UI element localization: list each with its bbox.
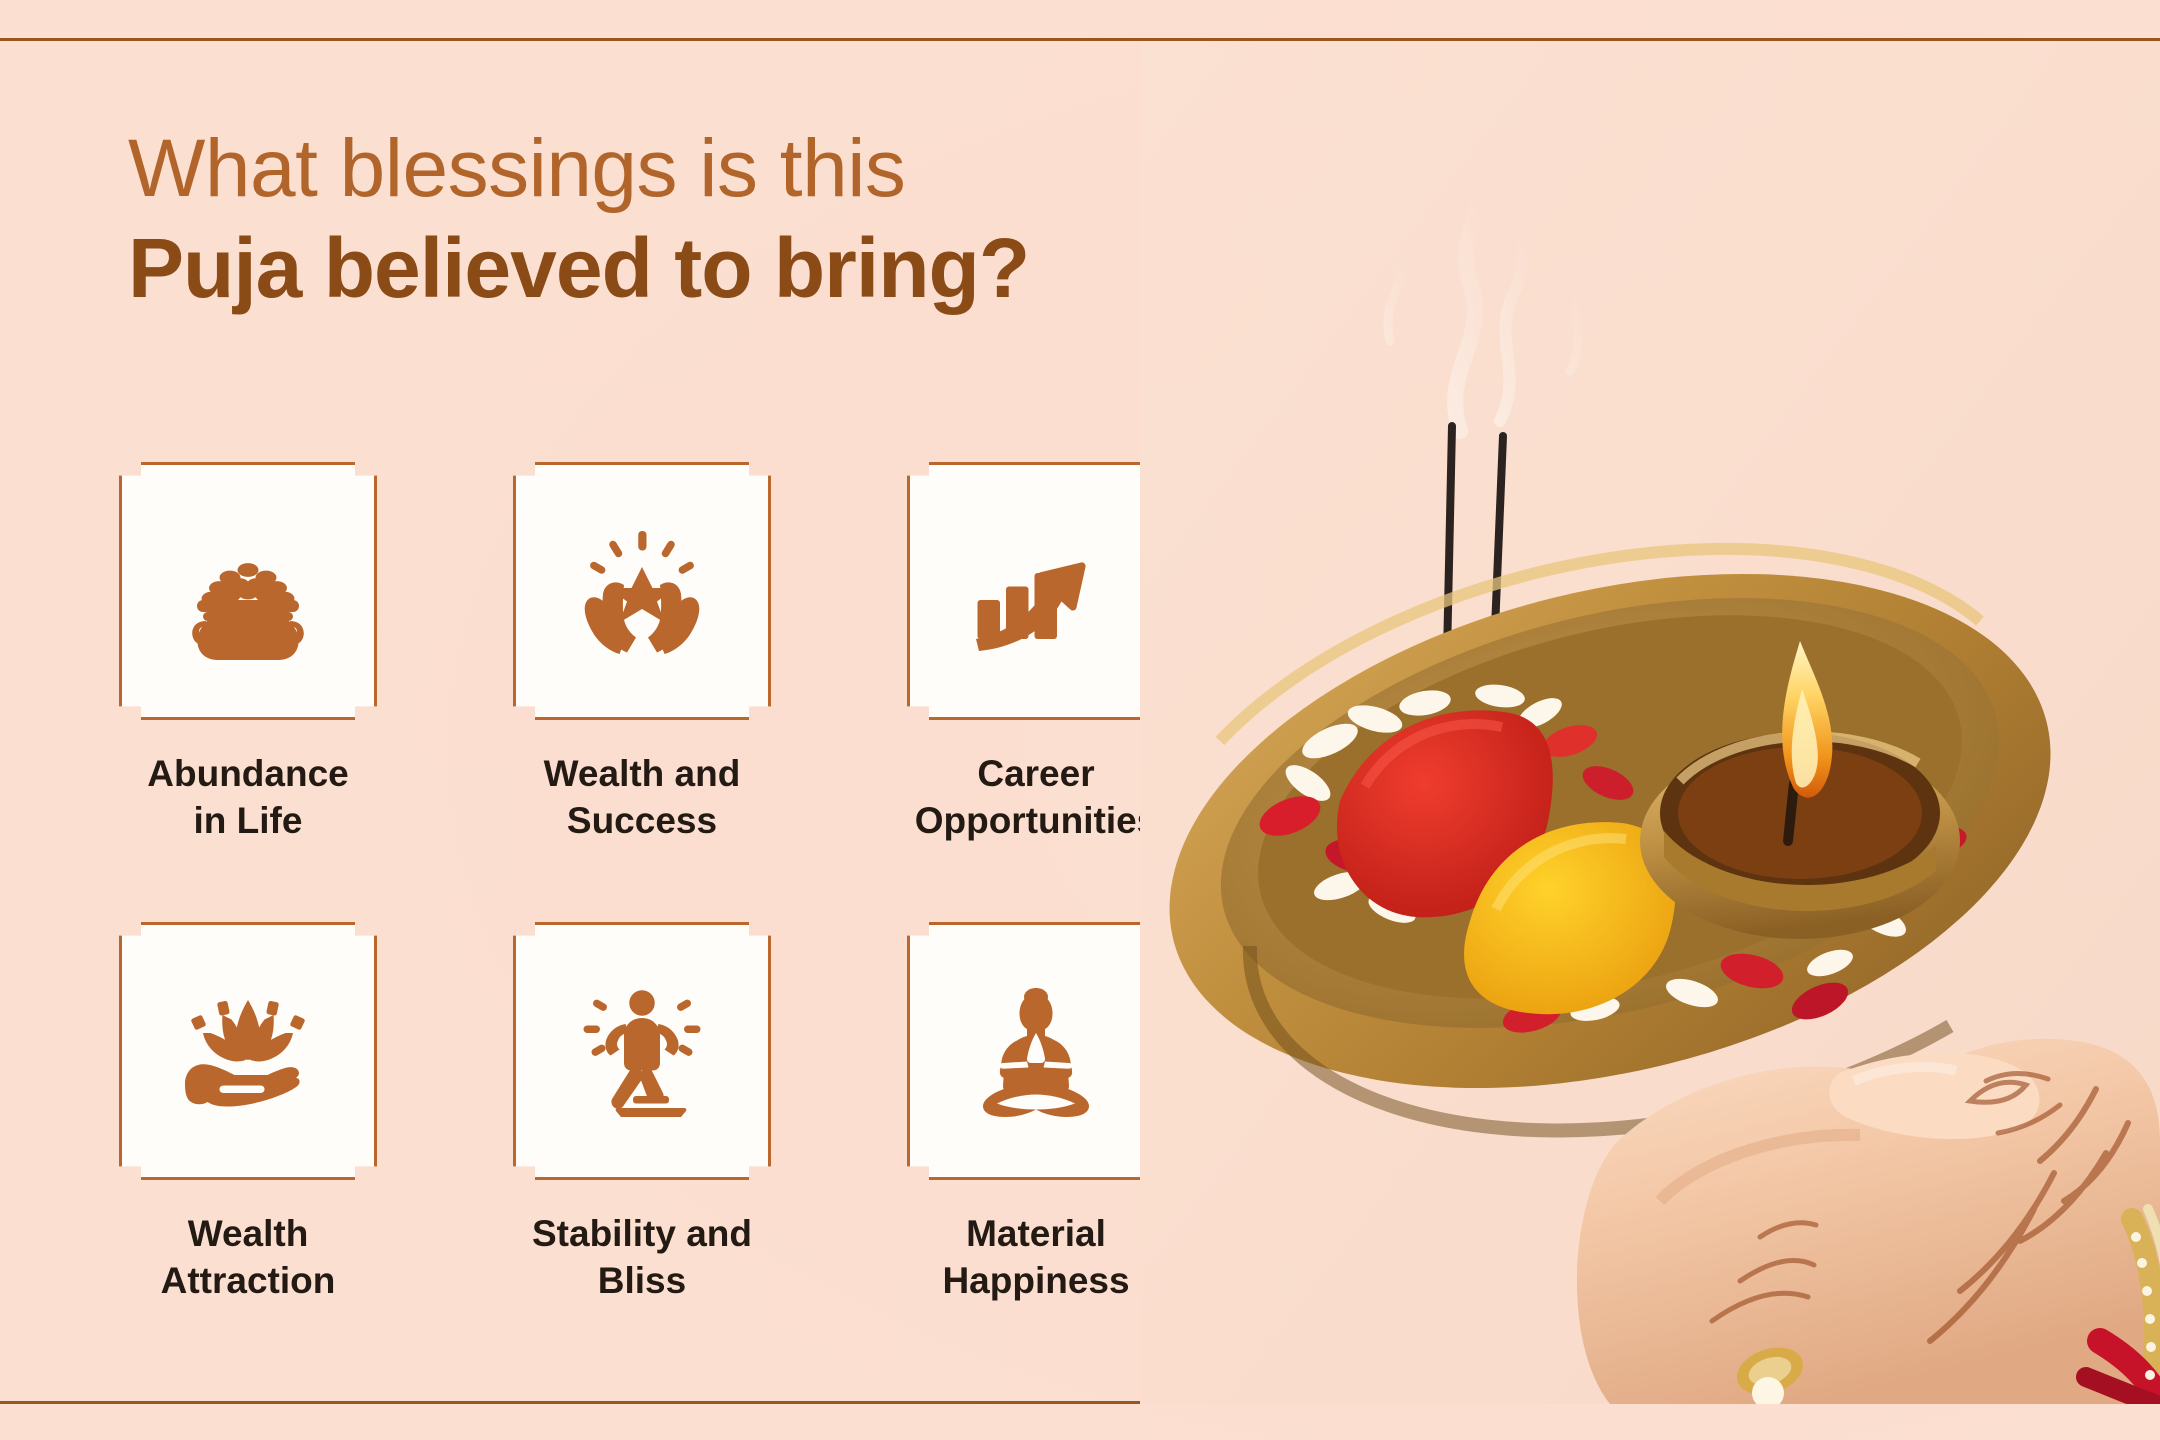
icon-tile (907, 462, 1165, 720)
blessing-item-stability-and-bliss[interactable]: Stability and Bliss (512, 922, 772, 1372)
icon-tile (119, 462, 377, 720)
blessing-item-wealth-attraction[interactable]: Wealth Attraction (118, 922, 378, 1372)
blessing-label: Abundance in Life (98, 750, 398, 845)
meditating-person-icon (961, 976, 1111, 1126)
pot-of-gold-icon (173, 516, 323, 666)
blessing-label: Stability and Bliss (492, 1210, 792, 1305)
headline-line-2: Puja believed to bring? (128, 226, 1029, 310)
blessing-item-wealth-and-success[interactable]: Wealth and Success (512, 462, 772, 912)
icon-tile (907, 922, 1165, 1180)
headline-line-1: What blessings is this (128, 128, 1029, 210)
blessings-grid: Abundance in Life (118, 462, 1178, 1372)
blessing-label: Wealth and Success (492, 750, 792, 845)
hand-holding-puja-thali-photo (1140, 41, 2160, 1404)
blessing-item-abundance-in-life[interactable]: Abundance in Life (118, 462, 378, 912)
icon-tile (513, 462, 771, 720)
poster-canvas: What blessings is this Puja believed to … (0, 0, 2160, 1440)
icon-tile (513, 922, 771, 1180)
blessing-item-career-opportunities[interactable]: Career Opportunities (906, 462, 1166, 912)
lotus-in-hand-icon (173, 976, 323, 1126)
blessing-label: Wealth Attraction (98, 1210, 398, 1305)
icon-tile (119, 922, 377, 1180)
person-on-pedestal-icon (567, 976, 717, 1126)
growth-chart-arrow-icon (961, 516, 1111, 666)
blessing-item-material-happiness[interactable]: Material Happiness (906, 922, 1166, 1372)
page-title: What blessings is this Puja believed to … (128, 128, 1029, 310)
hands-with-star-icon (567, 516, 717, 666)
